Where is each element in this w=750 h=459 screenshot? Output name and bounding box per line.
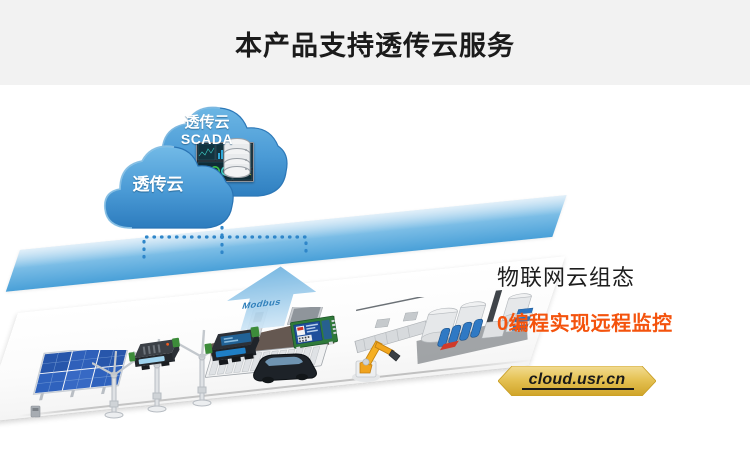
cloud-url-underline [522,388,634,390]
cloud-main-shape [98,140,238,236]
sidebar-heading: 物联网云组态 [497,260,635,292]
edge-gateway-device [203,323,265,371]
page-root: 本产品支持透传云服务 [0,0,750,459]
serial-server-device [128,333,184,377]
sidebar-highlight: 0编程实现远程监控 [497,307,673,336]
wifi-module-board [289,311,341,353]
page-title: 本产品支持透传云服务 [0,24,750,63]
cloud-url-label[interactable]: cloud.usr.cn [498,366,656,396]
illustration-stage: Modbus [0,85,750,459]
